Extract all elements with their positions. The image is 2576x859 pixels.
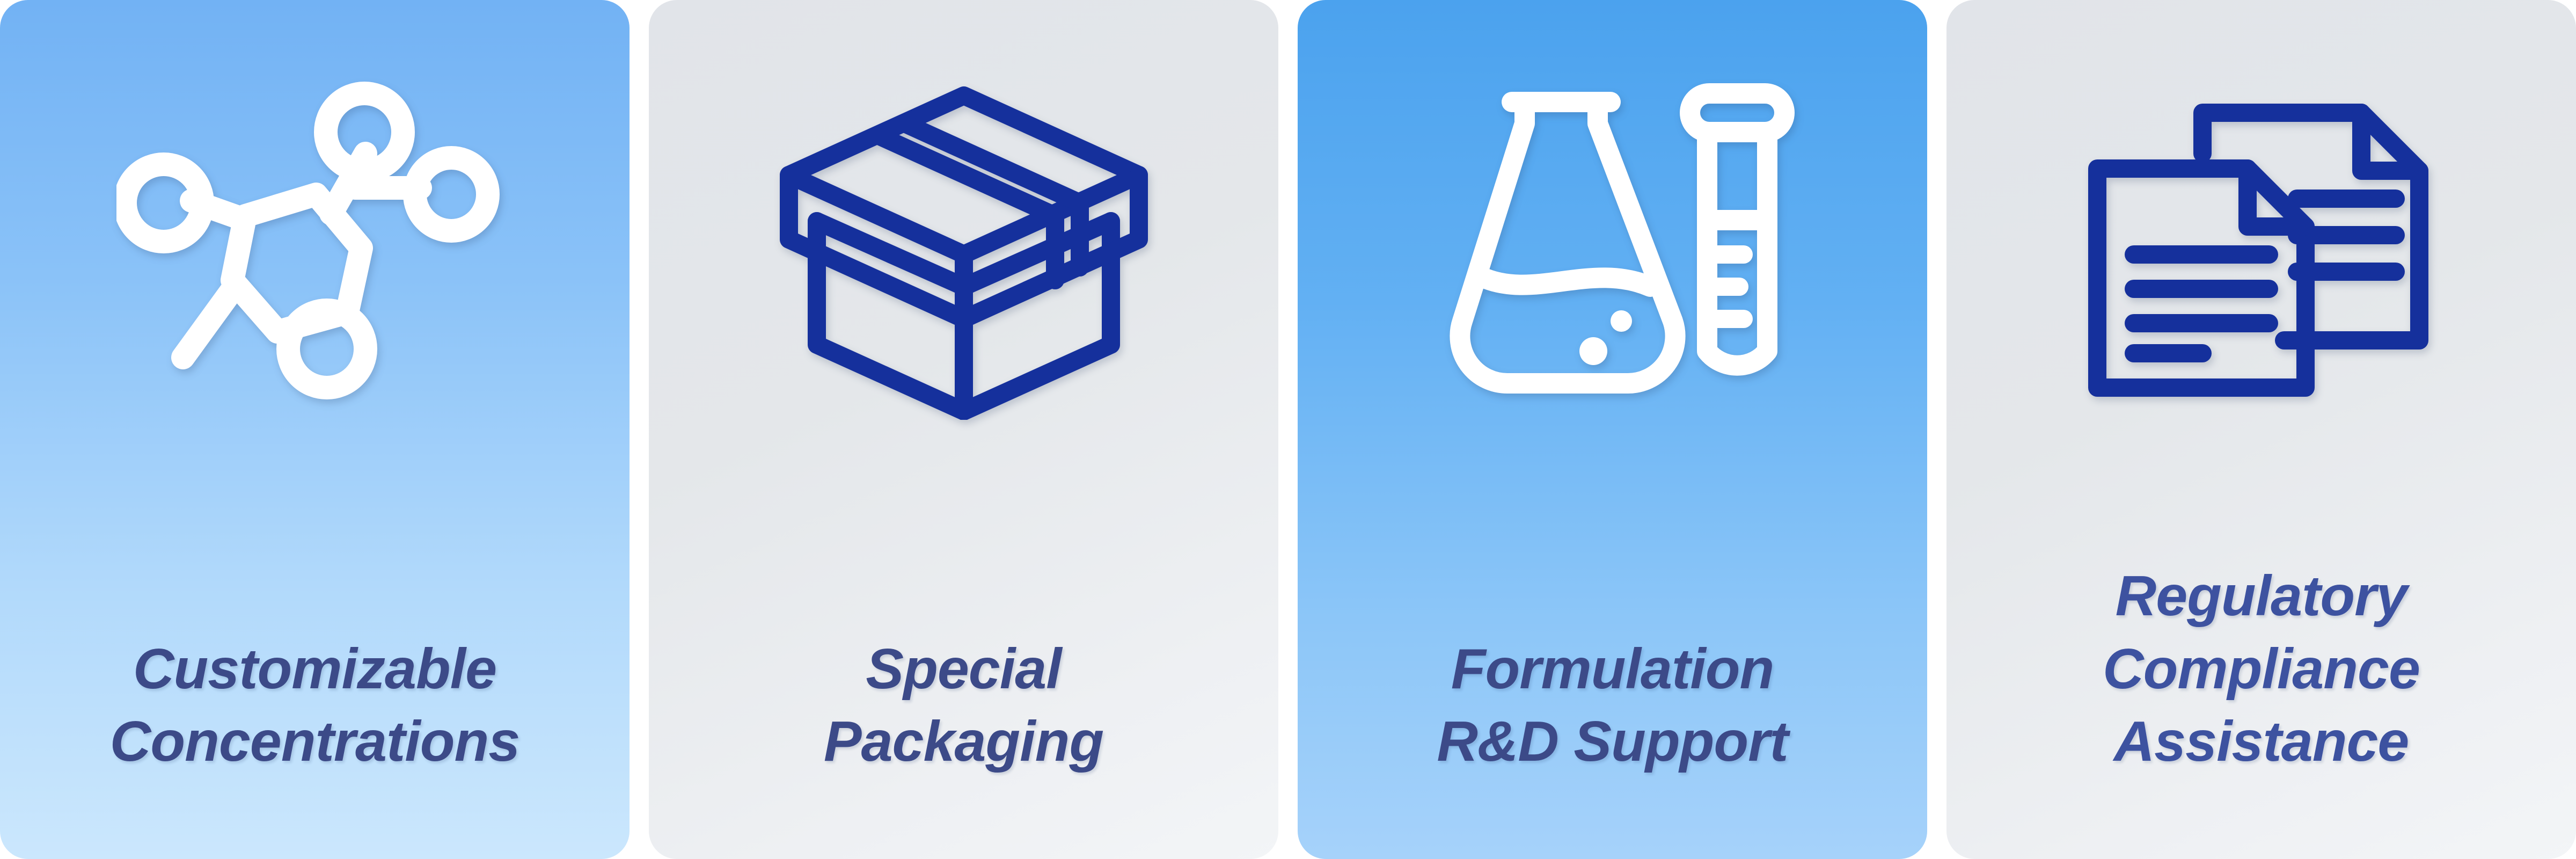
documents-icon — [2074, 60, 2449, 436]
feature-card-customizable-concentrations[interactable]: Customizable Concentrations — [0, 0, 630, 859]
feature-card-title: Regulatory Compliance Assistance — [1946, 560, 2576, 778]
flask-test-tube-icon — [1430, 60, 1795, 436]
feature-card-row: Customizable Concentrations Special Pack… — [0, 0, 2576, 859]
feature-card-title: Special Packaging — [649, 633, 1278, 778]
feature-card-title: Formulation R&D Support — [1298, 633, 1927, 778]
molecule-icon — [116, 60, 514, 436]
package-box-icon — [776, 60, 1152, 436]
feature-card-title: Customizable Concentrations — [0, 633, 630, 778]
feature-card-special-packaging[interactable]: Special Packaging — [649, 0, 1278, 859]
feature-card-regulatory-compliance-assistance[interactable]: Regulatory Compliance Assistance — [1946, 0, 2576, 859]
feature-card-formulation-rd-support[interactable]: Formulation R&D Support — [1298, 0, 1927, 859]
